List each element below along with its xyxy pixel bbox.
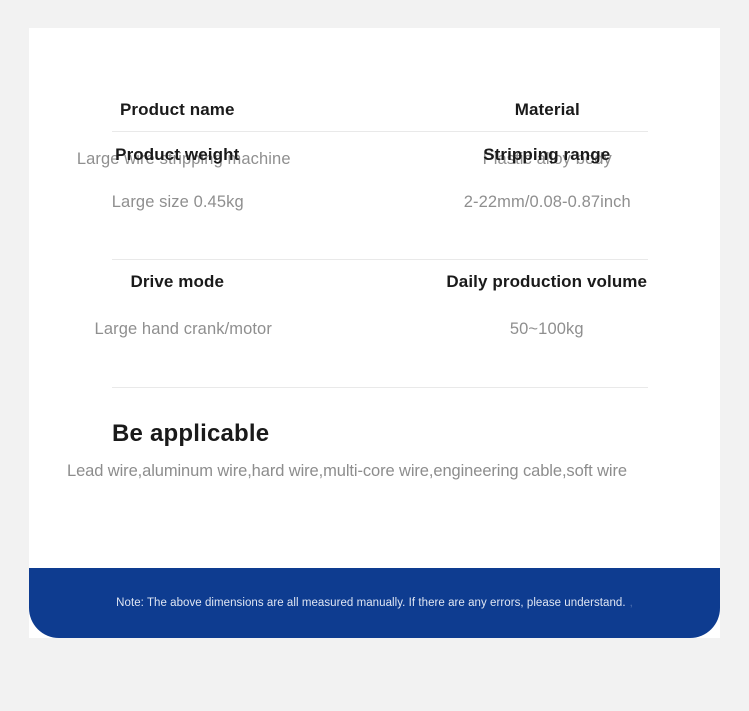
spec-value: 50~100kg [374,292,721,339]
note-text: Note: The above dimensions are all measu… [116,597,625,609]
spec-cell-drive-mode: Drive mode Large hand crank/motor [29,260,375,388]
spec-cell-material: Material Plastic alloy body [375,28,721,132]
product-spec-card: Product name Large wire stripping machin… [29,28,720,638]
spec-cell-product-name: Product name Large wire stripping machin… [29,28,375,132]
spec-cell-product-weight: Product weight Large size 0.45kg [29,132,375,260]
table-row: Drive mode Large hand crank/motor Daily … [29,260,720,388]
spec-label: Material [375,28,721,120]
spec-value: 2-22mm/0.08-0.87inch [375,165,721,212]
spec-cell-stripping-range: Stripping range 2-22mm/0.08-0.87inch [375,132,721,260]
spec-table: Product name Large wire stripping machin… [29,28,720,388]
note-tail-mark: , [626,597,633,609]
note-banner: Note: The above dimensions are all measu… [29,568,720,638]
spec-cell-daily-production-volume: Daily production volume 50~100kg [375,260,721,388]
spec-label: Daily production volume [374,260,721,292]
applicable-title: Be applicable [112,420,702,448]
spec-label: Product name [0,28,375,120]
applicable-section: Be applicable Lead wire,aluminum wire,ha… [112,420,702,481]
page-root: Product name Large wire stripping machin… [0,0,749,711]
spec-value: Large size 0.45kg [0,165,375,212]
applicable-text: Lead wire,aluminum wire,hard wire,multi-… [67,462,702,481]
spec-label: Stripping range [374,132,721,165]
table-row: Product name Large wire stripping machin… [29,28,720,132]
table-row: Product weight Large size 0.45kg Strippi… [29,132,720,260]
spec-label: Drive mode [0,260,375,292]
row-divider [112,387,648,388]
spec-value: Large hand crank/motor [0,292,375,339]
spec-label: Product weight [0,132,375,165]
